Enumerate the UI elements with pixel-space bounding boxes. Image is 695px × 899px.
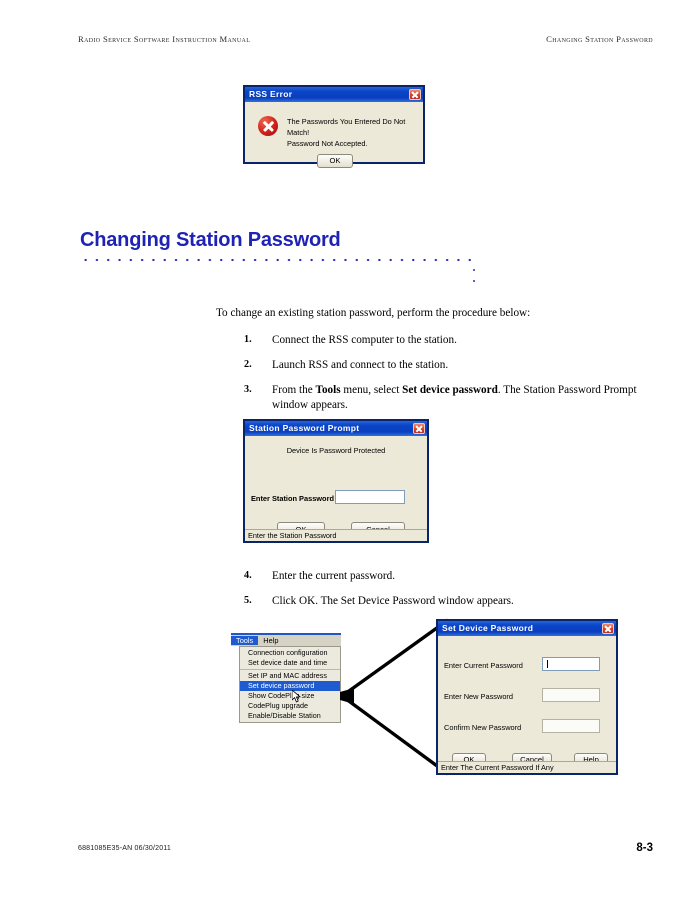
step-number: 1. [244, 333, 252, 348]
footer-document-id: 6881085E35-AN 06/30/2011 [78, 845, 171, 852]
step-item: 3. From the Tools menu, select Set devic… [244, 383, 664, 412]
rss-error-ok-button[interactable]: OK [317, 154, 353, 168]
intro-paragraph: To change an existing station password, … [216, 306, 666, 320]
set-device-password-dialog: Set Device Password Enter Current Passwo… [436, 619, 618, 775]
station-prompt-statusbar: Enter the Station Password [245, 529, 427, 541]
enter-current-password-input[interactable] [542, 657, 600, 671]
step-text: Enter the current password. [272, 569, 674, 584]
menu-item-connection-configuration[interactable]: Connection configuration [240, 648, 340, 658]
station-prompt-title: Station Password Prompt [249, 424, 413, 433]
dotted-rule [80, 258, 475, 262]
page-title: Changing Station Password [80, 229, 341, 252]
step-item: 4. Enter the current password. [244, 569, 674, 584]
step-number: 3. [244, 383, 252, 398]
set-device-title: Set Device Password [442, 624, 602, 633]
menu-item-codeplug-upgrade[interactable]: CodePlug upgrade [240, 701, 340, 711]
dotted-rule-dot [473, 280, 475, 282]
menu-item-set-device-date-and-time[interactable]: Set device date and time [240, 658, 340, 668]
menu-item-set-ip-and-mac-address[interactable]: Set IP and MAC address [240, 669, 340, 681]
step-item: 1. Connect the RSS computer to the stati… [244, 333, 674, 348]
rss-error-message: The Passwords You Entered Do Not Match! … [287, 116, 417, 149]
error-circle-icon [258, 116, 278, 136]
tools-menu-screenshot: Tools Help Connection configuration Set … [231, 633, 341, 746]
callout-arrow [340, 612, 450, 782]
menu-item-enable-disable-station[interactable]: Enable/Disable Station [240, 711, 340, 721]
confirm-new-password-input[interactable] [542, 719, 600, 733]
dotted-rule-dot [473, 269, 475, 271]
step-text: Launch RSS and connect to the station. [272, 358, 674, 373]
text-caret [547, 660, 548, 668]
menubar-item-tools[interactable]: Tools [231, 636, 258, 645]
menu-item-show-codeplug-size[interactable]: Show CodePlug size [240, 691, 340, 701]
station-password-prompt-dialog: Station Password Prompt Device Is Passwo… [243, 419, 429, 543]
set-device-titlebar: Set Device Password [438, 621, 616, 636]
running-head: Radio Service Software Instruction Manua… [78, 34, 653, 48]
enter-new-password-label: Enter New Password [444, 693, 513, 700]
document-page: Radio Service Software Instruction Manua… [0, 0, 695, 899]
step-item: 5. Click OK. The Set Device Password win… [244, 594, 674, 609]
tools-dropdown: Connection configuration Set device date… [239, 646, 341, 723]
station-password-label: Enter Station Password [251, 495, 334, 502]
close-icon[interactable] [602, 623, 614, 634]
enter-new-password-input[interactable] [542, 688, 600, 702]
running-head-right: Changing Station Password [546, 34, 653, 44]
set-device-statusbar: Enter The Current Password If Any [438, 761, 616, 773]
step-number: 5. [244, 594, 252, 609]
close-icon[interactable] [409, 89, 421, 100]
menubar: Tools Help [231, 633, 341, 646]
rss-error-message-line1: The Passwords You Entered Do Not Match! [287, 116, 417, 138]
rss-error-titlebar: RSS Error [245, 87, 423, 102]
step-number: 4. [244, 569, 252, 584]
step-text: From the Tools menu, select Set device p… [272, 383, 664, 412]
rss-error-title: RSS Error [249, 90, 409, 99]
step-text: Click OK. The Set Device Password window… [272, 594, 674, 609]
page-number: 8-3 [636, 842, 653, 854]
enter-current-password-label: Enter Current Password [444, 662, 523, 669]
station-prompt-subtitle: Device Is Password Protected [245, 446, 427, 455]
close-icon[interactable] [413, 423, 425, 434]
rss-error-dialog: RSS Error The Passwords You Entered Do N… [243, 85, 425, 164]
station-prompt-titlebar: Station Password Prompt [245, 421, 427, 436]
step-item: 2. Launch RSS and connect to the station… [244, 358, 674, 373]
menu-item-set-device-password[interactable]: Set device password [240, 681, 340, 691]
step-text: Connect the RSS computer to the station. [272, 333, 674, 348]
rss-error-message-line2: Password Not Accepted. [287, 138, 417, 149]
menubar-item-help[interactable]: Help [258, 636, 283, 645]
confirm-new-password-label: Confirm New Password [444, 724, 521, 731]
running-head-left: Radio Service Software Instruction Manua… [78, 34, 250, 44]
step-number: 2. [244, 358, 252, 373]
station-password-input[interactable] [335, 490, 405, 504]
